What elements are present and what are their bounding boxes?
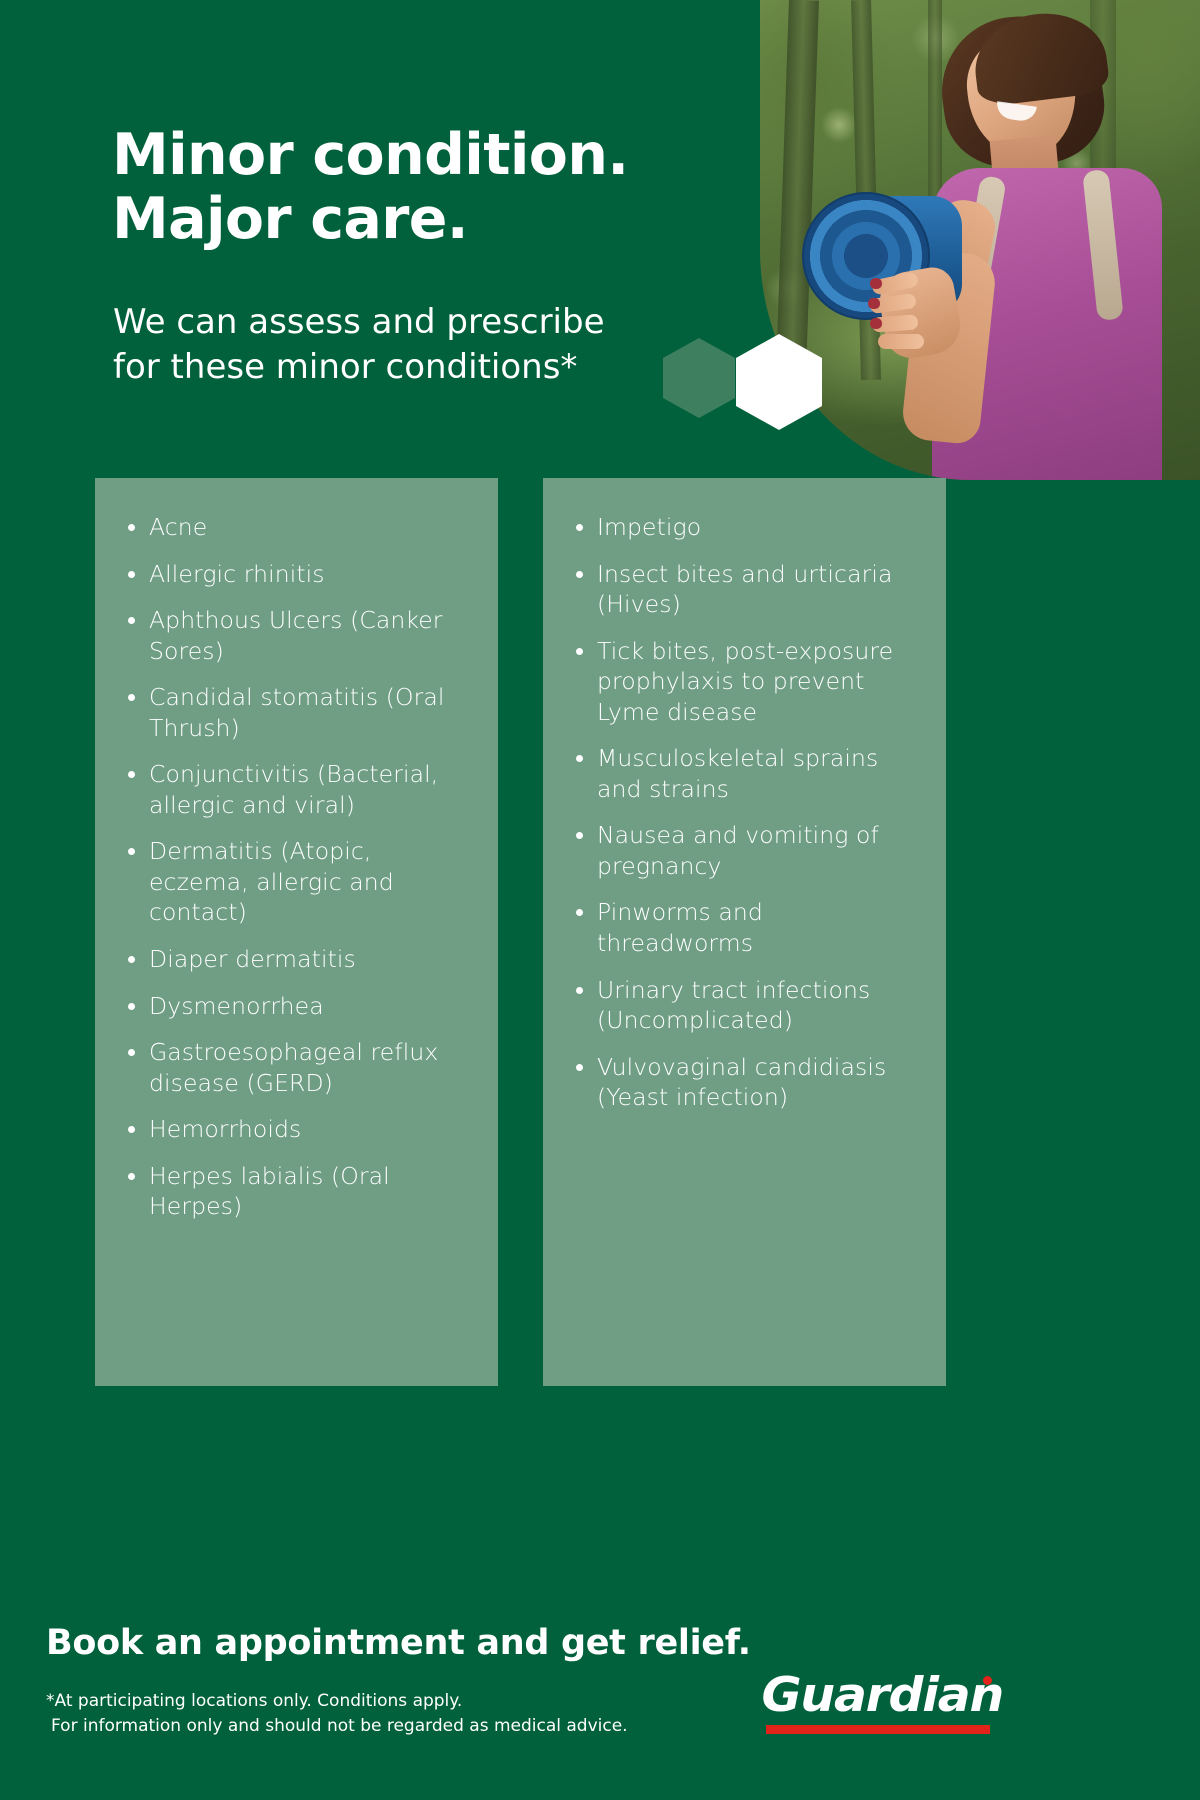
hexagon-accent-icon — [663, 338, 735, 418]
hero-photo — [760, 0, 1200, 480]
fingernail — [868, 298, 880, 309]
subheading: We can assess and prescribe for these mi… — [113, 300, 605, 390]
condition-list-item: Impetigo — [571, 512, 918, 543]
disclaimer-line-1: *At participating locations only. Condit… — [46, 1689, 628, 1714]
disclaimer-line-2: For information only and should not be r… — [46, 1714, 628, 1739]
condition-list-item: Pinworms and threadworms — [571, 897, 918, 958]
headline-line-1: Minor condition. — [112, 122, 628, 188]
condition-list-item: Allergic rhinitis — [123, 559, 470, 590]
guardian-logo: Guardian — [766, 1672, 990, 1734]
conditions-list-right: ImpetigoInsect bites and urticaria (Hive… — [571, 512, 918, 1113]
poster-root: Minor condition. Major care. We can asse… — [0, 0, 1200, 1800]
conditions-column-left: AcneAllergic rhinitisAphthous Ulcers (Ca… — [95, 478, 498, 1386]
page-title: Minor condition. Major care. — [112, 124, 628, 252]
condition-list-item: Herpes labialis (Oral Herpes) — [123, 1161, 470, 1222]
disclaimer: *At participating locations only. Condit… — [46, 1689, 628, 1738]
condition-list-item: Vulvovaginal candidiasis (Yeast infectio… — [571, 1052, 918, 1113]
condition-list-item: Nausea and vomiting of pregnancy — [571, 820, 918, 881]
logo-wordmark: Guardian — [762, 1672, 995, 1719]
logo-underline-bar — [766, 1725, 990, 1734]
headline-line-2: Major care. — [112, 186, 468, 252]
subheading-line-1: We can assess and prescribe — [113, 302, 605, 342]
condition-list-item: Acne — [123, 512, 470, 543]
condition-list-item: Gastroesophageal reflux disease (GERD) — [123, 1037, 470, 1098]
conditions-column-right: ImpetigoInsect bites and urticaria (Hive… — [543, 478, 946, 1386]
subheading-line-2: for these minor conditions* — [113, 347, 577, 387]
condition-list-item: Diaper dermatitis — [123, 944, 470, 975]
logo-dot — [983, 1676, 992, 1685]
condition-list-item: Dermatitis (Atopic, eczema, allergic and… — [123, 836, 470, 928]
conditions-section: AcneAllergic rhinitisAphthous Ulcers (Ca… — [95, 478, 1105, 1386]
finger — [878, 334, 924, 349]
condition-list-item: Insect bites and urticaria (Hives) — [571, 559, 918, 620]
cta-text: Book an appointment and get relief. — [46, 1623, 751, 1663]
fingernail — [870, 318, 882, 329]
condition-list-item: Tick bites, post-exposure prophylaxis to… — [571, 636, 918, 728]
condition-list-item: Conjunctivitis (Bacterial, allergic and … — [123, 759, 470, 820]
person-figure — [760, 0, 1200, 480]
condition-list-item: Candidal stomatitis (Oral Thrush) — [123, 682, 470, 743]
condition-list-item: Musculoskeletal sprains and strains — [571, 743, 918, 804]
fingernail — [870, 278, 882, 289]
condition-list-item: Dysmenorrhea — [123, 991, 470, 1022]
conditions-list-left: AcneAllergic rhinitisAphthous Ulcers (Ca… — [123, 512, 470, 1222]
condition-list-item: Urinary tract infections (Uncomplicated) — [571, 975, 918, 1036]
condition-list-item: Aphthous Ulcers (Canker Sores) — [123, 605, 470, 666]
condition-list-item: Hemorrhoids — [123, 1114, 470, 1145]
